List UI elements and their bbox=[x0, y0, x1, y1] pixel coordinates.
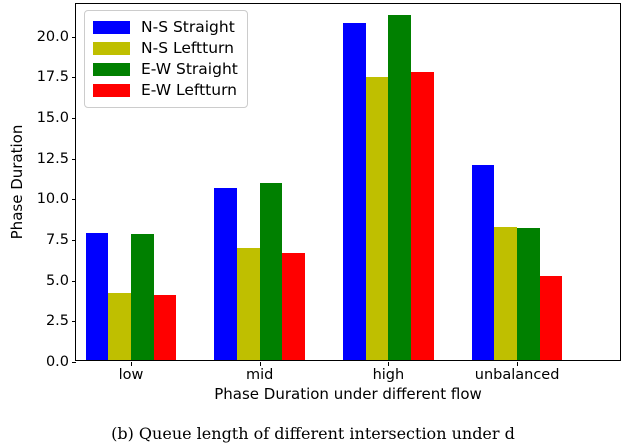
bar bbox=[366, 77, 389, 360]
y-tick-mark bbox=[72, 159, 76, 160]
color-swatch-icon bbox=[93, 21, 130, 34]
bar bbox=[540, 276, 563, 360]
bar bbox=[411, 72, 434, 360]
bar-chart-figure: Phase Duration 0.02.55.07.510.012.515.01… bbox=[0, 0, 626, 444]
legend-label: E-W Straight bbox=[141, 59, 238, 80]
legend-item: N-S Straight bbox=[93, 17, 238, 38]
bar bbox=[154, 295, 177, 360]
bar bbox=[343, 23, 366, 360]
y-axis-label: Phase Duration bbox=[8, 2, 26, 362]
bar bbox=[282, 253, 305, 360]
y-tick-mark bbox=[72, 37, 76, 38]
y-tick-label: 10.0 bbox=[33, 191, 69, 207]
x-axis-label: Phase Duration under different flow bbox=[75, 385, 621, 403]
y-tick-mark bbox=[72, 118, 76, 119]
y-tick-label: 15.0 bbox=[33, 110, 69, 126]
y-tick-label: 12.5 bbox=[33, 151, 69, 167]
bar bbox=[237, 248, 260, 360]
legend-item: E-W Straight bbox=[93, 59, 238, 80]
legend-label: N-S Leftturn bbox=[141, 38, 234, 59]
y-tick-mark bbox=[72, 362, 76, 363]
y-tick-mark bbox=[72, 240, 76, 241]
color-swatch-icon bbox=[93, 63, 130, 76]
y-tick-mark bbox=[72, 77, 76, 78]
y-tick-mark bbox=[72, 321, 76, 322]
y-tick-mark bbox=[72, 281, 76, 282]
legend: N-S StraightN-S LeftturnE-W StraightE-W … bbox=[84, 10, 248, 108]
color-swatch-icon bbox=[93, 42, 130, 55]
legend-item: N-S Leftturn bbox=[93, 38, 238, 59]
legend-label: N-S Straight bbox=[141, 17, 235, 38]
y-tick-label: 2.5 bbox=[33, 313, 69, 329]
legend-item: E-W Leftturn bbox=[93, 80, 238, 101]
bar bbox=[214, 188, 237, 360]
x-tick-label: unbalanced bbox=[437, 366, 597, 384]
y-tick-label: 7.5 bbox=[33, 232, 69, 248]
bar bbox=[388, 15, 411, 360]
bar bbox=[472, 165, 495, 360]
legend-label: E-W Leftturn bbox=[141, 80, 237, 101]
y-tick-label: 17.5 bbox=[33, 69, 69, 85]
bar bbox=[517, 228, 540, 360]
bar bbox=[494, 227, 517, 360]
y-tick-label: 20.0 bbox=[33, 29, 69, 45]
y-tick-label: 5.0 bbox=[33, 273, 69, 289]
bar bbox=[108, 293, 131, 360]
plot-area: 0.02.55.07.510.012.515.017.520.0 lowmidh… bbox=[75, 3, 621, 361]
y-tick-mark bbox=[72, 199, 76, 200]
color-swatch-icon bbox=[93, 84, 130, 97]
bar bbox=[131, 234, 154, 360]
bar bbox=[260, 183, 283, 360]
bar bbox=[86, 233, 109, 360]
figure-caption: (b) Queue length of different intersecti… bbox=[0, 424, 626, 444]
